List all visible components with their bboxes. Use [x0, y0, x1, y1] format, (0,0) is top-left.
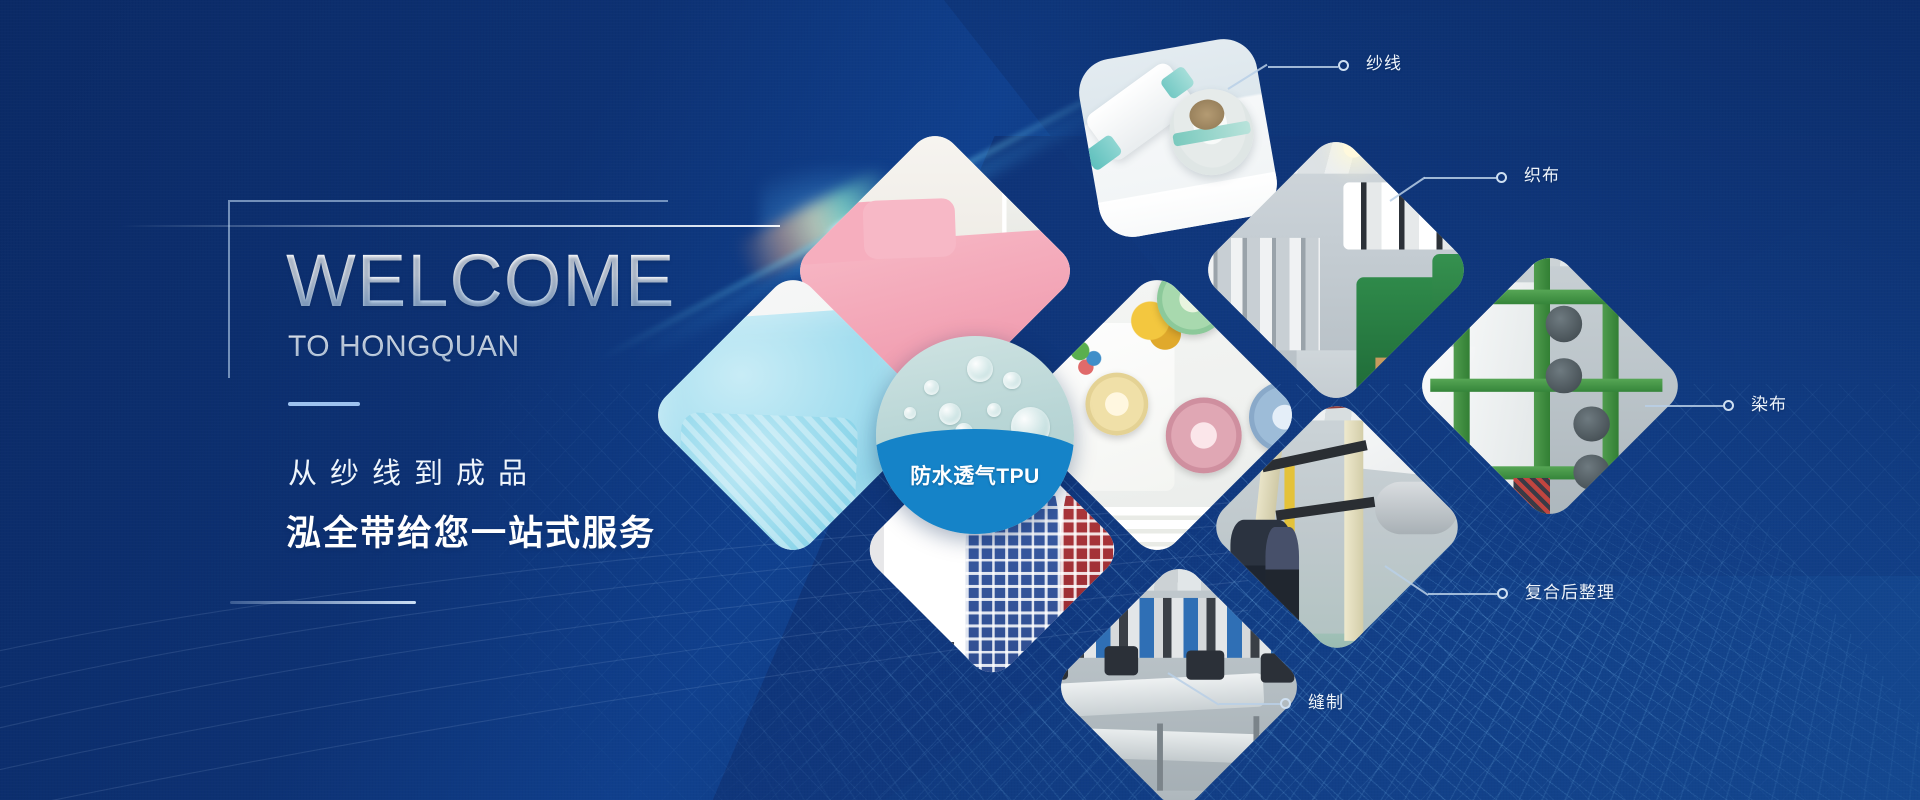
badge-label: 防水透气TPU [876, 460, 1074, 490]
callout-label-yarn: 纱线 [1366, 49, 1402, 74]
divider-short [288, 402, 360, 406]
callout-dot [1723, 400, 1734, 411]
divider-long [230, 601, 416, 604]
callout-label-sewing: 缝制 [1308, 688, 1344, 713]
callout-line [1424, 177, 1496, 179]
callout-label-weaving: 织布 [1524, 161, 1560, 186]
hero-banner: WELCOME TO HONGQUAN 从纱线到成品 泓全带给您一站式服务 [0, 0, 1920, 800]
page-subtitle: TO HONGQUAN [288, 330, 520, 364]
process-tile-yarn[interactable] [1074, 34, 1283, 243]
callout-line [1268, 66, 1338, 68]
callout-line [1428, 593, 1498, 595]
callout-dot [1496, 172, 1507, 183]
yarn-photo [1074, 34, 1283, 243]
callout-dot [1280, 698, 1291, 709]
callout-label-finishing: 复合后整理 [1525, 578, 1615, 603]
callout-line [1219, 703, 1281, 705]
tagline: 从纱线到成品 [288, 450, 540, 492]
callout-dot [1338, 60, 1349, 71]
callout-label-dyeing: 染布 [1751, 390, 1787, 415]
center-feature-badge[interactable]: 防水透气TPU [876, 336, 1074, 534]
callout-dot [1497, 588, 1508, 599]
headline: 泓全带给您一站式服务 [286, 505, 656, 556]
callout-line [1645, 405, 1723, 407]
page-title: WELCOME [286, 244, 675, 318]
